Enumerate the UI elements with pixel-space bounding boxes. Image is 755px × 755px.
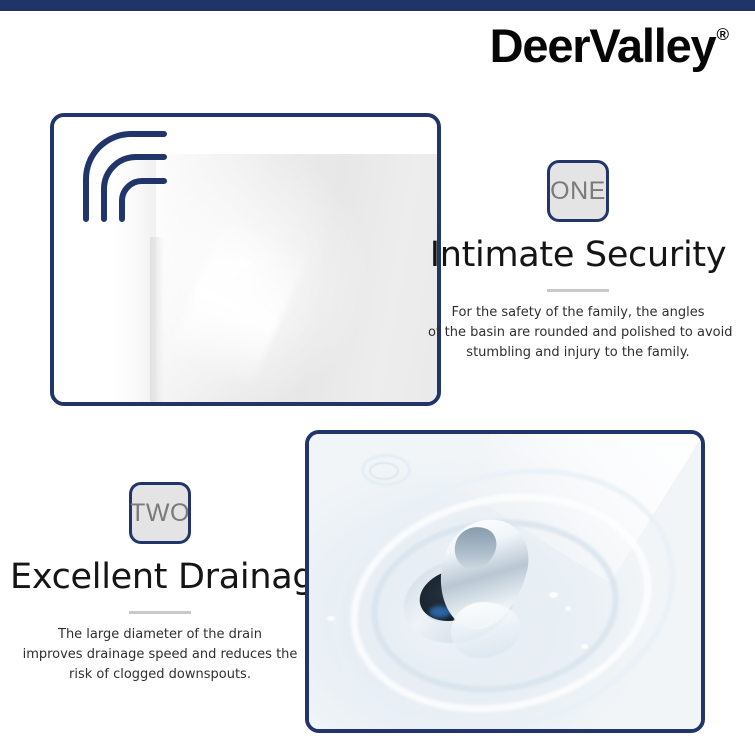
feature-one-badge: ONE bbox=[547, 160, 609, 222]
feature-one-body-line: For the safety of the family, the angles bbox=[428, 303, 728, 323]
feature-one-headline: Intimate Security bbox=[428, 236, 728, 275]
feature-one-badge-label: ONE bbox=[550, 179, 606, 204]
water-droplet bbox=[581, 644, 588, 649]
brand-logo: DeerValley ® bbox=[490, 22, 729, 69]
water-droplet bbox=[565, 606, 571, 611]
brand-name: DeerValley bbox=[490, 22, 716, 69]
feature-two-divider bbox=[129, 611, 191, 614]
basin-corner-photo-frame bbox=[50, 113, 441, 406]
feature-two-headline: Excellent Drainage bbox=[10, 558, 310, 597]
drain-photo-frame bbox=[305, 430, 705, 733]
feature-two-badge-label: TWO bbox=[130, 501, 190, 526]
feature-two-body-line: improves drainage speed and reduces the bbox=[10, 645, 310, 665]
rounded-corner-arc-overlay-icon bbox=[54, 117, 437, 402]
water-droplet bbox=[549, 592, 558, 598]
water-ripple-inner bbox=[369, 462, 399, 480]
feature-two-body-line: The large diameter of the drain bbox=[10, 625, 310, 645]
drain-photo bbox=[309, 434, 701, 729]
basin-corner-photo bbox=[54, 117, 437, 402]
top-accent-bar bbox=[0, 0, 755, 11]
feature-one-text-block: ONE Intimate Security For the safety of … bbox=[428, 160, 728, 363]
feature-one-body-line: stumbling and injury to the family. bbox=[428, 343, 728, 363]
water-droplet bbox=[327, 616, 335, 621]
feature-two-body: The large diameter of the drain improves… bbox=[10, 625, 310, 685]
feature-one-body-line: of the basin are rounded and polished to… bbox=[428, 323, 728, 343]
registered-trademark-icon: ® bbox=[716, 26, 729, 43]
feature-two-body-line: risk of clogged downspouts. bbox=[10, 665, 310, 685]
feature-two-text-block: TWO Excellent Drainage The large diamete… bbox=[10, 482, 310, 685]
feature-two-badge: TWO bbox=[129, 482, 191, 544]
feature-one-divider bbox=[547, 289, 609, 292]
feature-one-body: For the safety of the family, the angles… bbox=[428, 303, 728, 363]
